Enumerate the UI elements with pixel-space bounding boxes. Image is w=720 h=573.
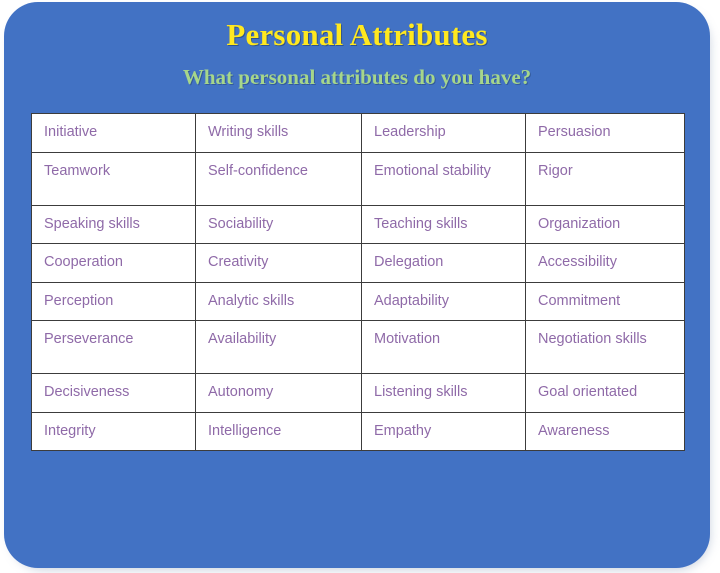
attribute-cell: Rigor xyxy=(526,152,685,205)
table-row: CooperationCreativityDelegationAccessibi… xyxy=(32,244,685,283)
table-row: IntegrityIntelligenceEmpathyAwareness xyxy=(32,412,685,451)
table-row: Speaking skillsSociabilityTeaching skill… xyxy=(32,205,685,244)
attribute-cell: Empathy xyxy=(362,412,526,451)
attribute-cell: Self-confidence xyxy=(196,152,362,205)
attributes-table-container: InitiativeWriting skillsLeadershipPersua… xyxy=(31,113,684,451)
attribute-cell: Cooperation xyxy=(32,244,196,283)
blue-card: Personal Attributes What personal attrib… xyxy=(4,2,710,568)
table-row: PerceptionAnalytic skillsAdaptabilityCom… xyxy=(32,282,685,321)
attribute-cell: Delegation xyxy=(362,244,526,283)
page-title: Personal Attributes xyxy=(4,2,710,52)
attribute-cell: Goal orientated xyxy=(526,374,685,413)
table-row: DecisivenessAutonomyListening skillsGoal… xyxy=(32,374,685,413)
personal-attributes-poster: Personal Attributes What personal attrib… xyxy=(0,0,720,573)
attribute-cell: Commitment xyxy=(526,282,685,321)
attribute-cell: Creativity xyxy=(196,244,362,283)
attribute-cell: Integrity xyxy=(32,412,196,451)
attribute-cell: Autonomy xyxy=(196,374,362,413)
attribute-cell: Intelligence xyxy=(196,412,362,451)
attribute-cell: Teamwork xyxy=(32,152,196,205)
attribute-cell: Sociability xyxy=(196,205,362,244)
attribute-cell: Initiative xyxy=(32,114,196,153)
attributes-table: InitiativeWriting skillsLeadershipPersua… xyxy=(31,113,685,451)
attribute-cell: Motivation xyxy=(362,321,526,374)
attribute-cell: Availability xyxy=(196,321,362,374)
attribute-cell: Teaching skills xyxy=(362,205,526,244)
page-subtitle: What personal attributes do you have? xyxy=(4,52,710,89)
table-row: InitiativeWriting skillsLeadershipPersua… xyxy=(32,114,685,153)
attribute-cell: Writing skills xyxy=(196,114,362,153)
table-row: TeamworkSelf-confidenceEmotional stabili… xyxy=(32,152,685,205)
attribute-cell: Decisiveness xyxy=(32,374,196,413)
attribute-cell: Perseverance xyxy=(32,321,196,374)
attribute-cell: Listening skills xyxy=(362,374,526,413)
attribute-cell: Perception xyxy=(32,282,196,321)
attribute-cell: Analytic skills xyxy=(196,282,362,321)
attribute-cell: Speaking skills xyxy=(32,205,196,244)
attribute-cell: Adaptability xyxy=(362,282,526,321)
attribute-cell: Awareness xyxy=(526,412,685,451)
table-row: PerseveranceAvailabilityMotivationNegoti… xyxy=(32,321,685,374)
attribute-cell: Negotiation skills xyxy=(526,321,685,374)
attribute-cell: Leadership xyxy=(362,114,526,153)
attribute-cell: Organization xyxy=(526,205,685,244)
attribute-cell: Accessibility xyxy=(526,244,685,283)
attribute-cell: Persuasion xyxy=(526,114,685,153)
attribute-cell: Emotional stability xyxy=(362,152,526,205)
